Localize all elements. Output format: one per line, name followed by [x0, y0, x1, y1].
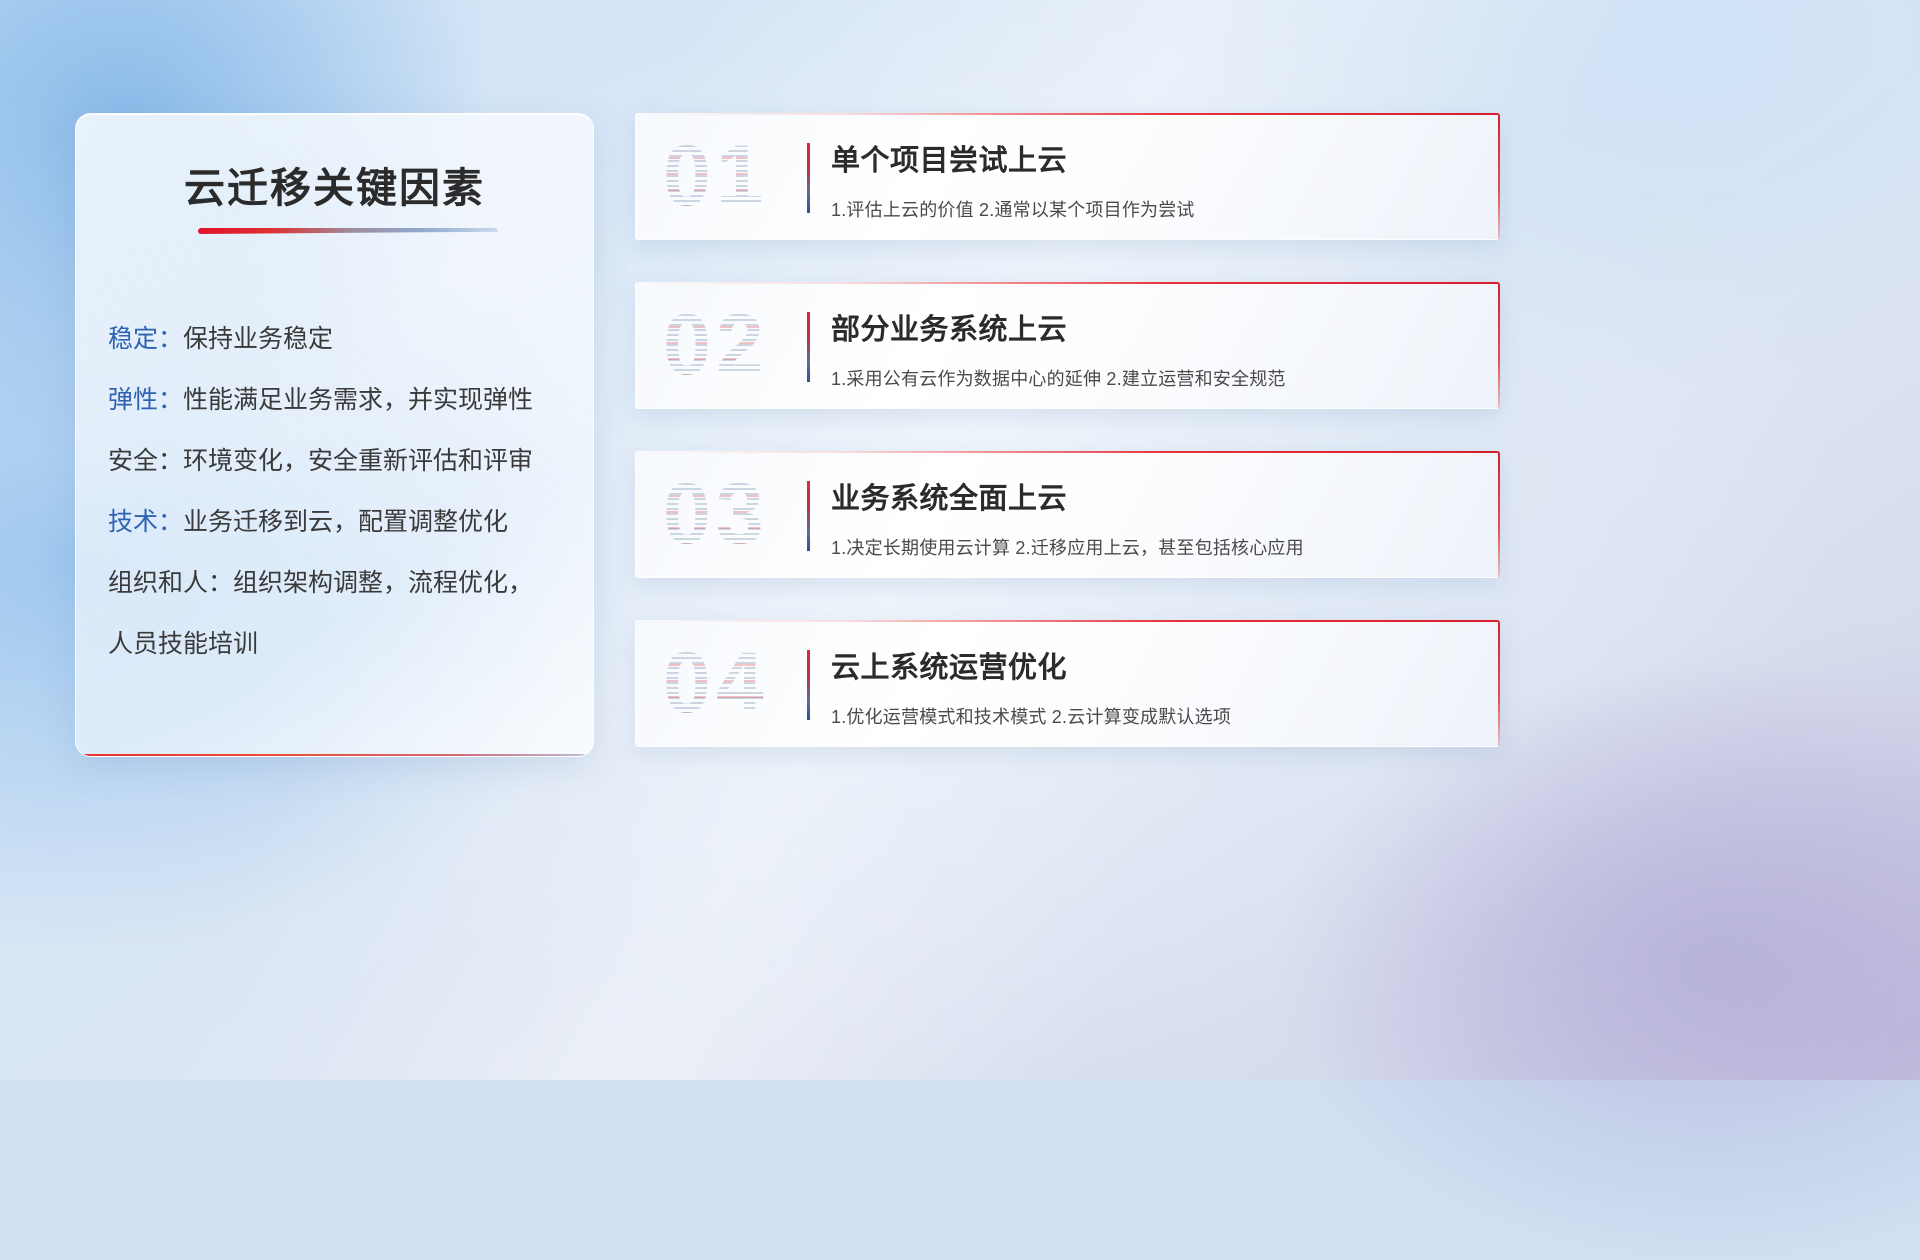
migration-steps-list: 0101单个项目尝试上云1.评估上云的价值 2.通常以某个项目作为尝试0202部… [635, 113, 1500, 789]
step-number-tint: 03 [663, 463, 769, 565]
step-divider-bar [807, 650, 810, 720]
factor-row: 安全：环境变化，安全重新评估和评审 [108, 431, 571, 492]
factor-text: 组织架构调整，流程优化， [233, 569, 533, 597]
factor-label: 弹性： [108, 386, 183, 414]
factor-text: 保持业务稳定 [183, 325, 333, 353]
factor-label: 组织和人： [108, 569, 233, 597]
factor-text: 人员技能培训 [108, 630, 258, 658]
factor-text: 环境变化，安全重新评估和评审 [183, 447, 533, 475]
step-description: 1.采用公有云作为数据中心的延伸 2.建立运营和安全规范 [831, 365, 1476, 391]
step-body: 云上系统运营优化1.优化运营模式和技术模式 2.云计算变成默认选项 [831, 644, 1476, 729]
step-body: 业务系统全面上云1.决定长期使用云计算 2.迁移应用上云，甚至包括核心应用 [831, 475, 1476, 560]
step-body: 部分业务系统上云1.采用公有云作为数据中心的延伸 2.建立运营和安全规范 [831, 306, 1476, 391]
step-title: 业务系统全面上云 [831, 475, 1476, 517]
step-card[interactable]: 0101单个项目尝试上云1.评估上云的价值 2.通常以某个项目作为尝试 [635, 113, 1500, 240]
step-description: 1.评估上云的价值 2.通常以某个项目作为尝试 [831, 196, 1476, 222]
factor-text: 性能满足业务需求，并实现弹性 [183, 386, 533, 414]
factor-row: 技术：业务迁移到云，配置调整优化 [108, 492, 571, 553]
step-divider-bar [807, 481, 810, 551]
step-title: 单个项目尝试上云 [831, 137, 1476, 179]
factor-label: 技术： [108, 508, 183, 536]
factor-text: 业务迁移到云，配置调整优化 [183, 508, 508, 536]
step-divider-bar [807, 312, 810, 382]
step-body: 单个项目尝试上云1.评估上云的价值 2.通常以某个项目作为尝试 [831, 137, 1476, 222]
step-description: 1.决定长期使用云计算 2.迁移应用上云，甚至包括核心应用 [831, 534, 1476, 560]
factor-row: 稳定：保持业务稳定 [108, 309, 571, 370]
key-factors-panel: 云迁移关键因素 稳定：保持业务稳定弹性：性能满足业务需求，并实现弹性安全：环境变… [75, 113, 594, 757]
step-card[interactable]: 0303业务系统全面上云1.决定长期使用云计算 2.迁移应用上云，甚至包括核心应… [635, 451, 1500, 578]
step-number-tint: 02 [663, 294, 769, 396]
factor-label: 稳定： [108, 325, 183, 353]
factor-list: 稳定：保持业务稳定弹性：性能满足业务需求，并实现弹性安全：环境变化，安全重新评估… [108, 309, 571, 675]
step-divider-bar [807, 143, 810, 213]
factor-row: 弹性：性能满足业务需求，并实现弹性 [108, 370, 571, 431]
step-title: 部分业务系统上云 [831, 306, 1476, 348]
step-number-tint: 04 [663, 632, 769, 734]
factor-row: 人员技能培训 [108, 614, 571, 675]
step-number-tint: 01 [663, 125, 769, 227]
title-underline-rule [198, 228, 498, 234]
step-title: 云上系统运营优化 [831, 644, 1476, 686]
step-description: 1.优化运营模式和技术模式 2.云计算变成默认选项 [831, 703, 1476, 729]
step-card[interactable]: 0404云上系统运营优化1.优化运营模式和技术模式 2.云计算变成默认选项 [635, 620, 1500, 747]
panel-title: 云迁移关键因素 [76, 154, 593, 214]
step-card[interactable]: 0202部分业务系统上云1.采用公有云作为数据中心的延伸 2.建立运营和安全规范 [635, 282, 1500, 409]
factor-row: 组织和人：组织架构调整，流程优化， [108, 553, 571, 614]
factor-label: 安全： [108, 447, 183, 475]
